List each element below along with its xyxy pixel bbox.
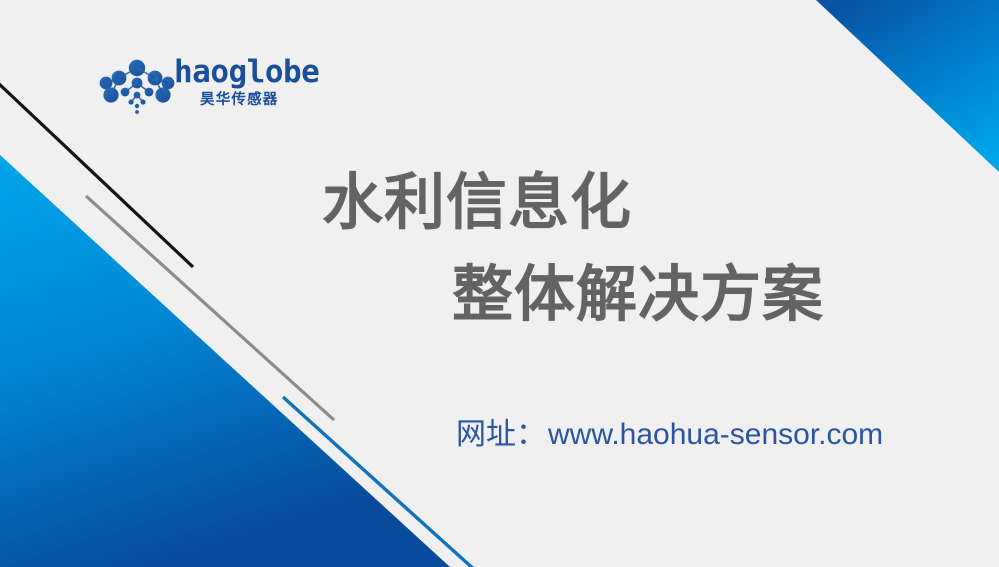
logo-subtitle-chinese: 昊华传感器 <box>200 93 279 108</box>
slide-title-line-2: 整体解决方案 <box>452 264 824 325</box>
logo-text-block: haoglobe 昊华传感器 <box>174 55 314 119</box>
website-url[interactable]: www.haohua-sensor.com <box>548 420 883 450</box>
website-line: 网址： www.haohua-sensor.com <box>456 420 883 450</box>
logo-wordmark: haoglobe <box>174 57 319 88</box>
website-label: 网址： <box>456 420 546 450</box>
node-tree-icon <box>98 59 176 115</box>
slide-title-line-1: 水利信息化 <box>322 172 632 233</box>
company-logo: haoglobe 昊华传感器 <box>98 55 313 121</box>
top-right-blue-triangle <box>816 0 999 172</box>
presentation-slide: haoglobe 昊华传感器 水利信息化 整体解决方案 网址： www.haoh… <box>0 0 999 567</box>
